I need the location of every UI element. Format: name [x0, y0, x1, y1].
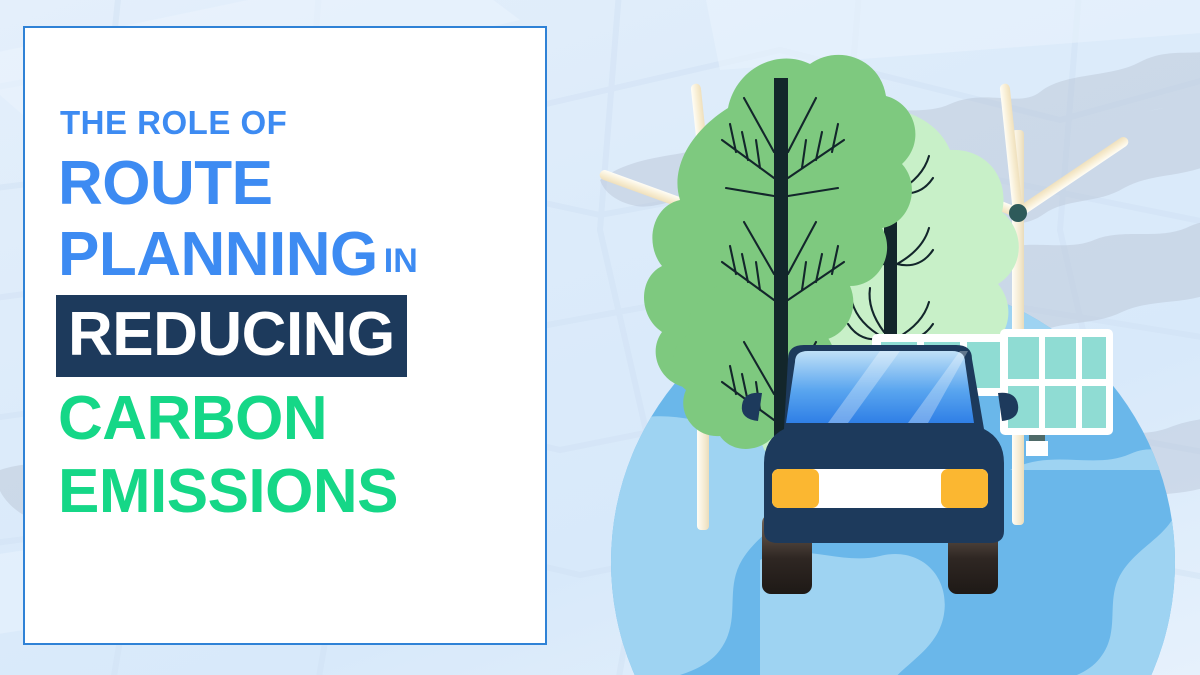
headline-line-route: ROUTE	[58, 152, 525, 215]
headline-line-planning: PLANNINGIN	[58, 223, 525, 286]
headline-word-planning: PLANNING	[58, 220, 378, 289]
headline-line-emissions: EMISSIONS	[58, 460, 525, 523]
headline-line-carbon: CARBON	[58, 387, 525, 450]
headline-highlight-row: REDUCING	[56, 295, 525, 376]
headlight-left	[772, 469, 819, 508]
poster-canvas: THE ROLE OF ROUTE PLANNINGIN REDUCING CA…	[0, 0, 1200, 675]
title-card: THE ROLE OF ROUTE PLANNINGIN REDUCING CA…	[23, 26, 547, 645]
headlight-right	[941, 469, 988, 508]
headline-block: THE ROLE OF ROUTE PLANNINGIN REDUCING CA…	[58, 106, 525, 523]
turbine-hub-right	[1009, 204, 1027, 222]
headline-highlight-reducing: REDUCING	[56, 295, 407, 376]
headline-kicker: THE ROLE OF	[60, 106, 525, 139]
headline-word-in: IN	[384, 242, 418, 280]
